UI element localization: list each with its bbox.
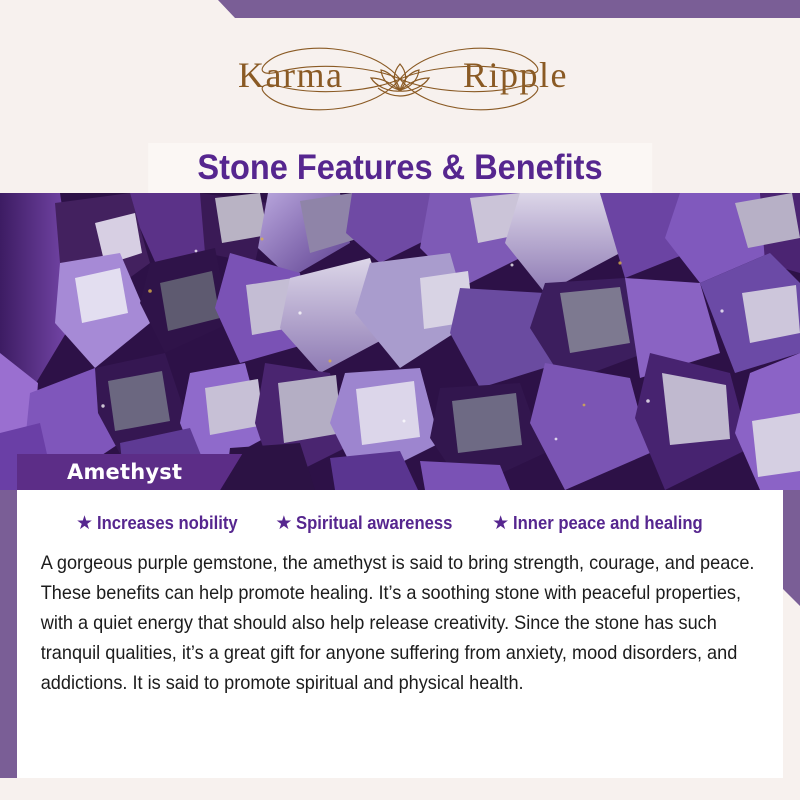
frame-left-band: [0, 490, 17, 778]
stone-name-label: Amethyst: [67, 460, 182, 484]
stone-description: A gorgeous purple gemstone, the amethyst…: [37, 544, 759, 698]
benefit-label: Spiritual awareness: [296, 512, 452, 534]
title-plate: Stone Features & Benefits: [148, 143, 652, 196]
page-title: Stone Features & Benefits: [197, 148, 602, 188]
amethyst-crystal-texture: [0, 193, 800, 490]
star-icon: ★: [275, 514, 292, 533]
page-bottom-strip: [0, 778, 800, 800]
logo-text-karma: Karma: [238, 54, 343, 96]
page-header: Karma Ripple Stone Features & Benefits: [0, 18, 800, 193]
lotus-icon: [371, 64, 429, 96]
stone-name-banner: Amethyst: [17, 454, 242, 490]
frame-top-band: [0, 0, 800, 18]
benefits-list: ★ Increases nobility ★ Spiritual awarene…: [37, 512, 763, 544]
benefit-item-0: ★ Increases nobility: [76, 512, 253, 534]
benefit-label: Increases nobility: [97, 512, 238, 534]
benefit-label: Inner peace and healing: [513, 512, 703, 534]
brand-logo: Karma Ripple: [220, 36, 580, 122]
benefit-item-1: ★ Spiritual awareness: [275, 512, 470, 534]
stone-image: Amethyst: [0, 193, 800, 490]
infographic-page: Karma Ripple Stone Features & Benefits: [0, 0, 800, 800]
stone-details-card: ★ Increases nobility ★ Spiritual awarene…: [17, 490, 783, 778]
benefit-item-2: ★ Inner peace and healing: [492, 512, 724, 534]
star-icon: ★: [492, 514, 509, 533]
logo-text-ripple: Ripple: [463, 54, 568, 96]
star-icon: ★: [76, 514, 93, 533]
